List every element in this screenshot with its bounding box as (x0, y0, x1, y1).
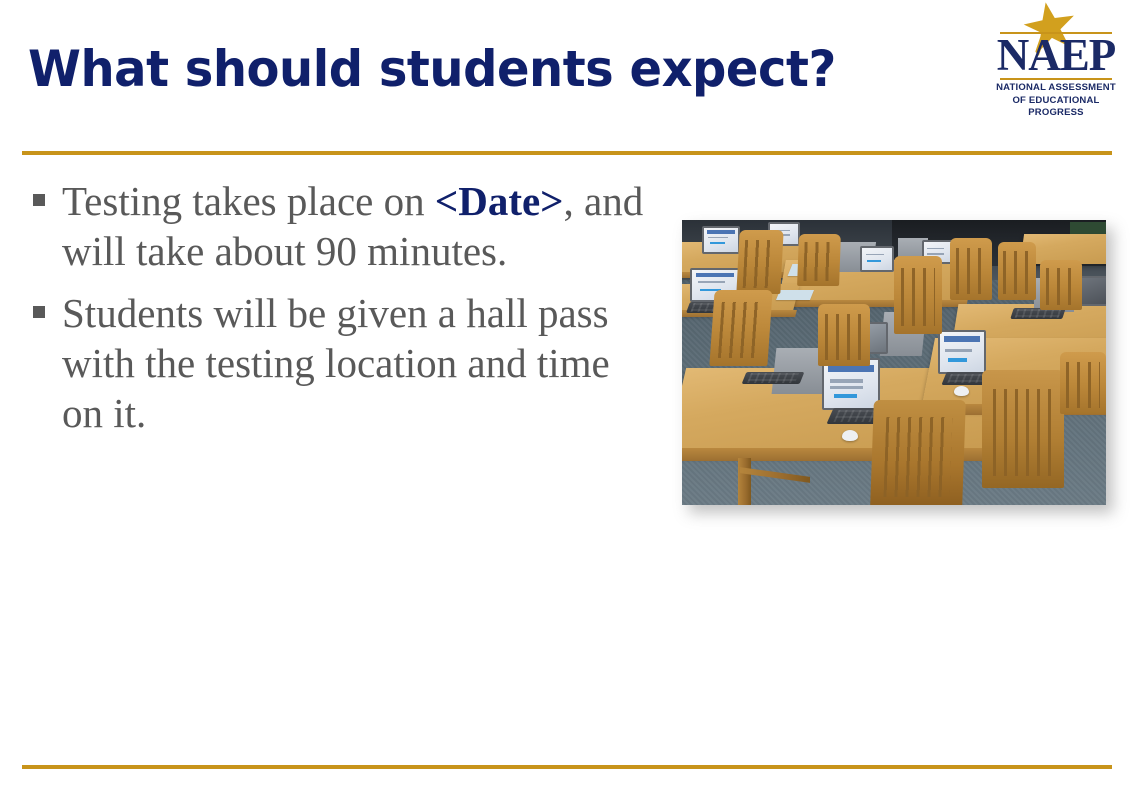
chair-right-edge (1040, 260, 1082, 310)
chair-foreground-right (982, 370, 1064, 488)
bullet-emphasis-date: <Date> (435, 178, 564, 224)
tablet-ui-bar (944, 336, 981, 342)
tablet-keyboard-foreground-left (742, 372, 805, 384)
tablet-ui-line (927, 248, 944, 249)
tablet-ui-line (866, 254, 884, 256)
chair-far-right (1060, 352, 1106, 414)
bullet-square-icon (33, 306, 45, 318)
chair-slats (825, 314, 862, 360)
naep-wordmark: NAEP (996, 32, 1116, 78)
tablet-ui-accent (867, 260, 880, 262)
chair-back-far-right (998, 242, 1036, 300)
tablet-ui-line (830, 379, 862, 382)
naep-tagline-line-2: OF EDUCATIONAL (996, 95, 1116, 108)
classroom-photo (682, 220, 1106, 505)
tablet-screen (860, 246, 894, 272)
chair-slats (1046, 268, 1076, 305)
tablet-ui-line (708, 237, 728, 239)
chair-mid-right (894, 256, 942, 334)
bullet-lead-text: Testing takes place on (62, 178, 435, 224)
mouse-foreground-right (954, 386, 969, 396)
naep-tagline: NATIONAL ASSESSMENT OF EDUCATIONAL PROGR… (996, 82, 1116, 120)
chair-slats (803, 242, 835, 280)
chair-back-center (797, 234, 841, 286)
bullet-square-icon (33, 194, 45, 206)
chair-mid-left (709, 290, 772, 366)
tablet-ui-line (830, 386, 862, 389)
chair-slats (1003, 251, 1030, 294)
page-title: What should students expect? (28, 38, 950, 100)
naep-logo: NAEP NATIONAL ASSESSMENT OF EDUCATIONAL … (996, 2, 1116, 120)
list-item: Students will be given a hall pass with … (28, 288, 648, 438)
chair-mid-center (818, 304, 870, 366)
tablet-ui-accent (948, 358, 967, 362)
chair-slats (993, 389, 1052, 476)
divider-bottom (22, 765, 1112, 769)
tablet-ui-bar (696, 273, 735, 277)
divider-top (22, 151, 1112, 155)
table-leg-foreground-left (738, 458, 751, 505)
photo-scene (682, 220, 1106, 505)
tablet-foreground-right (938, 330, 986, 374)
chair-back-right (950, 238, 992, 300)
logo-rule-bottom (1000, 78, 1112, 80)
tablet-screen (702, 226, 740, 254)
chair-slats (956, 248, 986, 294)
tablet-back-right-center (860, 246, 894, 272)
tablet-screen (938, 330, 986, 374)
naep-tagline-line-1: NATIONAL ASSESSMENT (996, 82, 1116, 95)
tablet-ui-line (698, 281, 726, 283)
tablet-ui-accent (834, 394, 858, 398)
paper-sheet-left (776, 290, 814, 300)
chair-slats (1066, 362, 1099, 408)
tablet-ui-bar (707, 230, 736, 233)
chair-back-left (736, 230, 783, 294)
bullet-lead-text: Students will be given a hall pass with … (62, 290, 610, 436)
chair-foreground-center (870, 400, 966, 505)
keyboard-keys (747, 373, 799, 382)
tablet-ui-accent (710, 242, 725, 244)
tablet-ui-line (927, 253, 944, 254)
tablet-ui-line (945, 349, 971, 352)
bullet-list: Testing takes place on <Date>, and will … (28, 176, 648, 450)
keyboard-keys (1015, 309, 1061, 317)
chair-slats (718, 302, 764, 358)
chair-slats (883, 417, 952, 497)
chair-slats (743, 240, 777, 287)
naep-tagline-line-3: PROGRESS (996, 107, 1116, 120)
chair-slats (901, 268, 936, 326)
mouse-foreground-center (842, 430, 858, 441)
list-item: Testing takes place on <Date>, and will … (28, 176, 648, 276)
tablet-back-left (702, 226, 740, 254)
slide-canvas: What should students expect? NAEP NATION… (0, 0, 1139, 801)
